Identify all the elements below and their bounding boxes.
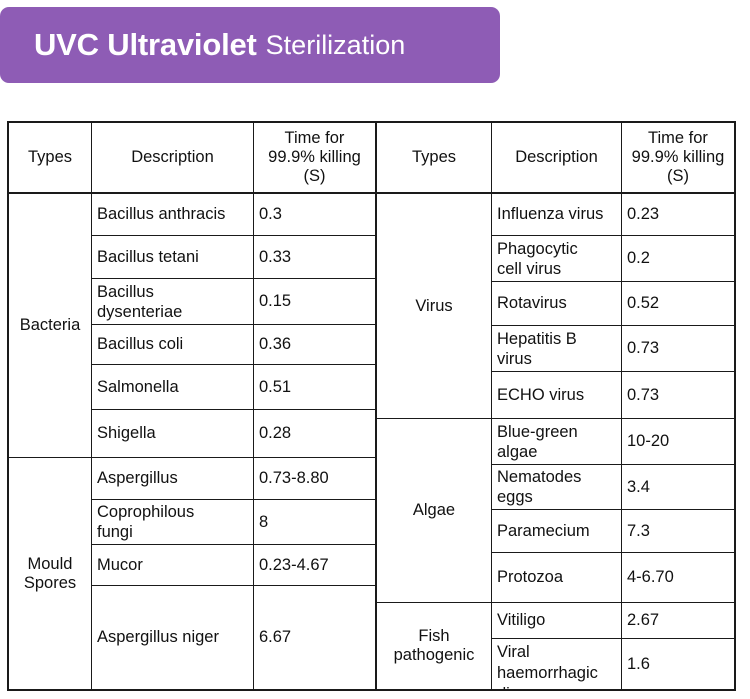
cell-time: 7.3 [622, 510, 734, 552]
group-virus: Virus Influenza virus 0.23 Phagocytic ce… [377, 194, 734, 418]
column-header-types: Types [377, 123, 492, 192]
cell-description: Viral haemorrhagic disease [492, 639, 622, 689]
group-label-virus: Virus [377, 194, 491, 418]
cell-time: 0.23 [622, 194, 734, 235]
cell-description: ECHO virus [492, 372, 622, 418]
table-row: Influenza virus 0.23 [492, 194, 734, 236]
column-header-time: Time for 99.9% killing (S) [254, 123, 375, 192]
cell-description: Paramecium [492, 510, 622, 552]
table-row: Hepatitis B virus 0.73 [492, 326, 734, 372]
cell-time: 0.28 [254, 410, 375, 457]
cell-description: Bacillus tetani [92, 236, 254, 278]
cell-time: 3.4 [622, 465, 734, 509]
cell-time: 0.51 [254, 365, 375, 409]
table-row: Salmonella 0.51 [92, 365, 375, 410]
cell-description: Phagocytic cell virus [492, 236, 622, 281]
table-row: Aspergillus niger 6.67 [92, 586, 375, 689]
group-label-mould-spores: Mould Spores [9, 458, 91, 689]
group-mould-spores: Mould Spores Aspergillus 0.73-8.80 Copro… [9, 458, 375, 689]
group-label-algae: Algae [377, 419, 491, 602]
group-algae: Algae Blue-green algae 10-20 Nematodes e… [377, 419, 734, 602]
group-rows: Vitiligo 2.67 Viral haemorrhagic disease… [492, 603, 734, 689]
cell-time: 8 [254, 500, 375, 544]
table-row: Rotavirus 0.52 [492, 282, 734, 326]
sterilization-times-table: Types Description Time for 99.9% killing… [7, 121, 736, 691]
cell-description: Hepatitis B virus [492, 326, 622, 371]
cell-description: Vitiligo [492, 603, 622, 638]
cell-time: 0.73 [622, 372, 734, 418]
column-header-description: Description [92, 123, 254, 192]
cell-description: Coprophilous fungi [92, 500, 254, 544]
cell-time: 0.36 [254, 325, 375, 364]
column-header-description: Description [492, 123, 622, 192]
table-row: Bacillus dysenteriae 0.15 [92, 279, 375, 325]
cell-time: 10-20 [622, 419, 734, 464]
table-row: Phagocytic cell virus 0.2 [492, 236, 734, 282]
cell-time: 0.23-4.67 [254, 545, 375, 585]
cell-description: Blue-green algae [492, 419, 622, 464]
cell-time: 0.2 [622, 236, 734, 281]
cell-time: 0.15 [254, 279, 375, 324]
group-type-column: Virus [377, 194, 492, 418]
group-type-column: Fish pathogenic [377, 603, 492, 689]
table-row: Bacillus anthracis 0.3 [92, 194, 375, 236]
cell-description: Bacillus coli [92, 325, 254, 364]
table-row: Paramecium 7.3 [492, 510, 734, 553]
table-row: Bacillus coli 0.36 [92, 325, 375, 365]
cell-time: 0.3 [254, 194, 375, 235]
cell-description: Aspergillus niger [92, 586, 254, 689]
cell-description: Bacillus dysenteriae [92, 279, 254, 324]
table-row: Bacillus tetani 0.33 [92, 236, 375, 279]
cell-time: 0.73 [622, 326, 734, 371]
table-row: Nematodes eggs 3.4 [492, 465, 734, 510]
table-row: Vitiligo 2.67 [492, 603, 734, 639]
group-type-column: Algae [377, 419, 492, 602]
cell-description: Shigella [92, 410, 254, 457]
banner-title-light: Sterilization [266, 30, 406, 61]
group-rows: Blue-green algae 10-20 Nematodes eggs 3.… [492, 419, 734, 602]
table-header-row-right: Types Description Time for 99.9% killing… [377, 123, 734, 194]
group-label-bacteria: Bacteria [9, 194, 91, 457]
table-row: Mucor 0.23-4.67 [92, 545, 375, 586]
table-row: ECHO virus 0.73 [492, 372, 734, 418]
group-rows: Bacillus anthracis 0.3 Bacillus tetani 0… [92, 194, 375, 457]
table-row: Viral haemorrhagic disease 1.6 [492, 639, 734, 689]
cell-description: Protozoa [492, 553, 622, 602]
cell-description: Nematodes eggs [492, 465, 622, 509]
group-rows: Aspergillus 0.73-8.80 Coprophilous fungi… [92, 458, 375, 689]
group-fish-pathogenic: Fish pathogenic Vitiligo 2.67 Viral haem… [377, 603, 734, 689]
group-rows: Influenza virus 0.23 Phagocytic cell vir… [492, 194, 734, 418]
cell-description: Salmonella [92, 365, 254, 409]
column-header-time: Time for 99.9% killing (S) [622, 123, 734, 192]
table-row: Coprophilous fungi 8 [92, 500, 375, 545]
cell-time: 2.67 [622, 603, 734, 638]
banner-title-bold: UVC Ultraviolet [34, 27, 257, 63]
cell-description: Rotavirus [492, 282, 622, 325]
group-bacteria: Bacteria Bacillus anthracis 0.3 Bacillus… [9, 194, 375, 457]
table-half-right: Types Description Time for 99.9% killing… [377, 123, 734, 689]
table-row: Blue-green algae 10-20 [492, 419, 734, 465]
table-row: Aspergillus 0.73-8.80 [92, 458, 375, 500]
group-type-column: Bacteria [9, 194, 92, 457]
cell-description: Bacillus anthracis [92, 194, 254, 235]
cell-time: 6.67 [254, 586, 375, 689]
group-type-column: Mould Spores [9, 458, 92, 689]
column-header-types: Types [9, 123, 92, 192]
cell-time: 4-6.70 [622, 553, 734, 602]
cell-description: Influenza virus [492, 194, 622, 235]
table-header-row-left: Types Description Time for 99.9% killing… [9, 123, 375, 194]
group-label-fish-pathogenic: Fish pathogenic [377, 603, 491, 689]
cell-time: 1.6 [622, 639, 734, 689]
table-half-left: Types Description Time for 99.9% killing… [9, 123, 377, 689]
table-row: Protozoa 4-6.70 [492, 553, 734, 602]
table-row: Shigella 0.28 [92, 410, 375, 457]
cell-time: 0.52 [622, 282, 734, 325]
cell-description: Mucor [92, 545, 254, 585]
cell-description: Aspergillus [92, 458, 254, 499]
cell-time: 0.73-8.80 [254, 458, 375, 499]
cell-time: 0.33 [254, 236, 375, 278]
page-header-banner: UVC Ultraviolet Sterilization [0, 7, 500, 83]
